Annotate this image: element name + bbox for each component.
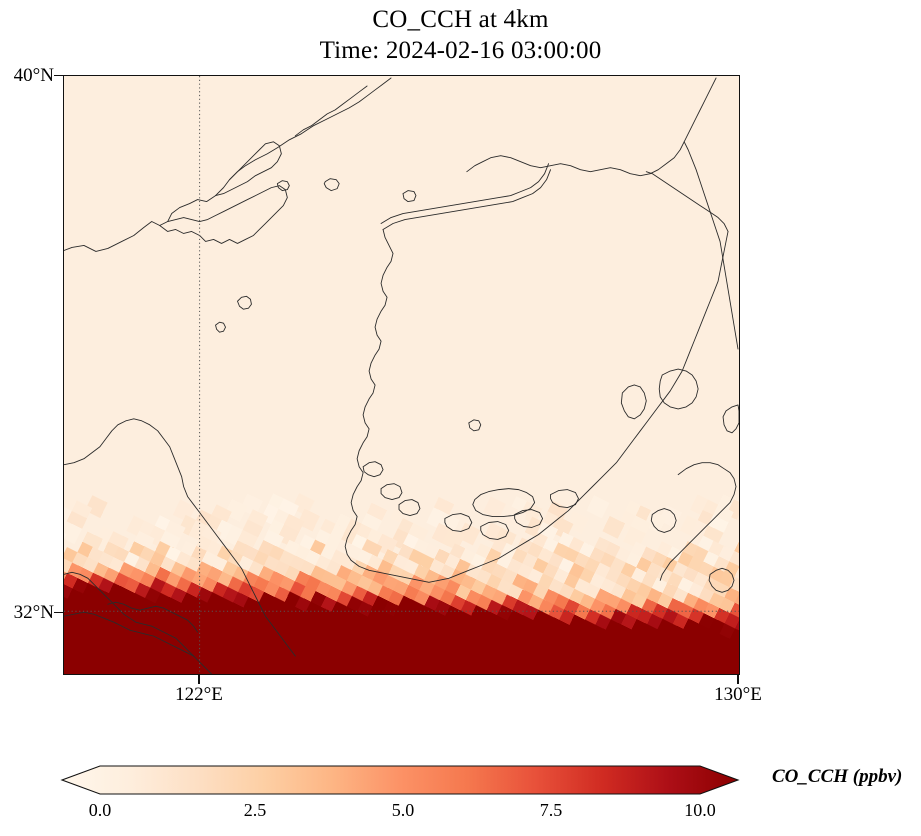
ytick-label-40N: 40°N <box>0 65 54 87</box>
chart-title-line1: CO_CCH at 4km <box>0 4 921 35</box>
xtick-mark-122E <box>198 675 200 684</box>
ytick-mark-32N <box>54 612 63 614</box>
map-canvas <box>64 76 739 674</box>
cbar-tick-5: 5.0 <box>353 800 453 821</box>
xtick-mark-130E <box>737 675 739 684</box>
cbar-tick-0: 0.0 <box>50 800 150 821</box>
chart-title: CO_CCH at 4km Time: 2024-02-16 03:00:00 <box>0 4 921 66</box>
colorbar-body <box>62 766 738 794</box>
cbar-tick-7_5: 7.5 <box>501 800 601 821</box>
cbar-tick-10: 10.0 <box>650 800 750 821</box>
colorbar[interactable] <box>60 758 740 808</box>
ytick-label-32N: 32°N <box>0 602 54 624</box>
ytick-mark-40N <box>54 75 63 77</box>
colorbar-title: CO_CCH (ppbv) <box>772 766 902 788</box>
data-cell-layer <box>64 493 739 674</box>
xtick-label-122E: 122°E <box>149 684 249 706</box>
cbar-tick-2_5: 2.5 <box>205 800 305 821</box>
chart-title-line2: Time: 2024-02-16 03:00:00 <box>0 35 921 66</box>
map-plot-area[interactable] <box>63 75 740 675</box>
xtick-label-130E: 130°E <box>688 684 788 706</box>
